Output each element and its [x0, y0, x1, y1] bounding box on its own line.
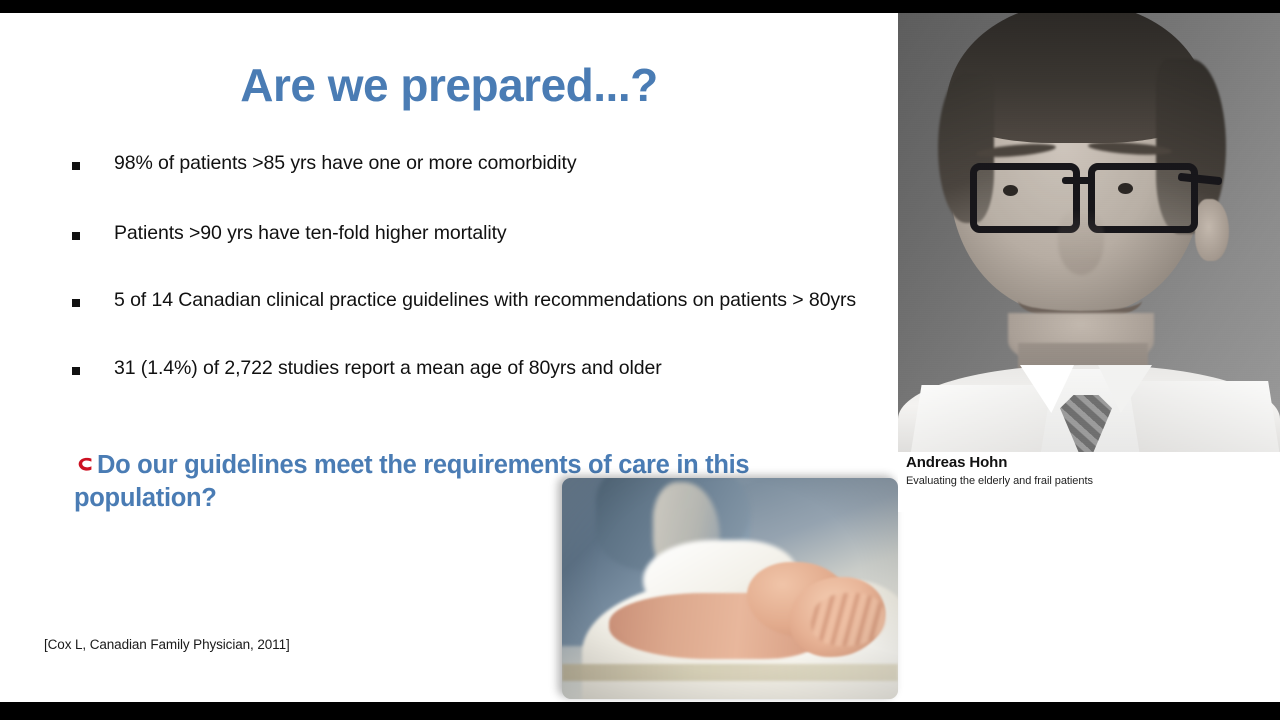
list-item: 5 of 14 Canadian clinical practice guide…	[72, 288, 862, 313]
citation-reference: [Cox L, Canadian Family Physician, 2011]	[44, 637, 290, 652]
red-curved-arrow-icon	[74, 453, 96, 477]
speaker-name: Andreas Hohn	[906, 454, 1007, 471]
bullet-text: Patients >90 yrs have ten-fold higher mo…	[114, 221, 507, 246]
list-item: 98% of patients >85 yrs have one or more…	[72, 151, 862, 176]
bullet-text: 5 of 14 Canadian clinical practice guide…	[114, 288, 856, 313]
bullet-text: 31 (1.4%) of 2,722 studies report a mean…	[114, 356, 662, 381]
letterbox-bottom	[0, 702, 1280, 720]
slide-title: Are we prepared...?	[0, 58, 898, 112]
list-item: 31 (1.4%) of 2,722 studies report a mean…	[72, 356, 862, 381]
screen: Are we prepared...? 98% of patients >85 …	[0, 0, 1280, 720]
speaker-video-feed[interactable]	[898, 13, 1280, 452]
video-grain-overlay	[898, 13, 1280, 452]
list-item: Patients >90 yrs have ten-fold higher mo…	[72, 221, 862, 246]
photo-vignette	[562, 478, 898, 699]
square-bullet-icon	[72, 367, 80, 375]
square-bullet-icon	[72, 299, 80, 307]
bullet-text: 98% of patients >85 yrs have one or more…	[114, 151, 577, 176]
speaker-info-block: Andreas Hohn Evaluating the elderly and …	[898, 452, 1280, 512]
letterbox-top	[0, 0, 1280, 13]
square-bullet-icon	[72, 232, 80, 240]
elderly-hands-photo	[562, 478, 898, 699]
speaker-subtitle: Evaluating the elderly and frail patient…	[906, 475, 1093, 487]
bullet-list: 98% of patients >85 yrs have one or more…	[72, 151, 862, 405]
square-bullet-icon	[72, 162, 80, 170]
